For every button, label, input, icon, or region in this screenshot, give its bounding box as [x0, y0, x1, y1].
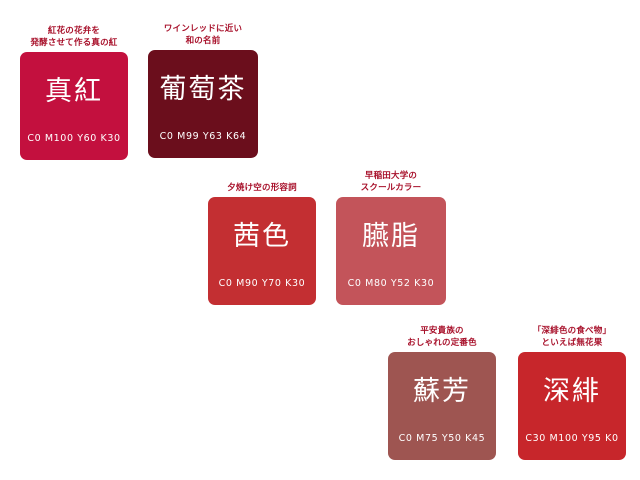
swatch-color-name: 深緋 [543, 378, 601, 405]
swatch-color-name: 茜色 [233, 223, 291, 250]
swatch-chip[interactable]: 蘇芳 C0 M75 Y50 K45 [388, 352, 496, 460]
swatch-caption: 早稲田大学の スクールカラー [336, 170, 446, 194]
swatch-caption: 夕焼け空の形容詞 [208, 182, 316, 194]
color-swatch-card[interactable]: ワインレッドに近い 和の名前 葡萄茶 C0 M99 Y63 K64 [148, 50, 258, 158]
swatch-chip[interactable]: 葡萄茶 C0 M99 Y63 K64 [148, 50, 258, 158]
swatch-caption: 「深緋色の食べ物」 といえば無花果 [518, 325, 626, 349]
color-swatch-card[interactable]: 早稲田大学の スクールカラー 臙脂 C0 M80 Y52 K30 [336, 197, 446, 305]
swatch-caption: 平安貴族の おしゃれの定番色 [388, 325, 496, 349]
swatch-color-name: 真紅 [45, 78, 103, 105]
swatch-cmyk-value: C0 M80 Y52 K30 [336, 278, 446, 289]
swatch-chip[interactable]: 茜色 C0 M90 Y70 K30 [208, 197, 316, 305]
swatch-color-name: 葡萄茶 [160, 76, 247, 103]
swatch-chip[interactable]: 臙脂 C0 M80 Y52 K30 [336, 197, 446, 305]
color-swatch-card[interactable]: 平安貴族の おしゃれの定番色 蘇芳 C0 M75 Y50 K45 [388, 352, 496, 460]
swatch-caption: ワインレッドに近い 和の名前 [148, 23, 258, 47]
color-swatch-card[interactable]: 夕焼け空の形容詞 茜色 C0 M90 Y70 K30 [208, 197, 316, 305]
swatch-cmyk-value: C0 M75 Y50 K45 [388, 433, 496, 444]
color-swatch-card[interactable]: 「深緋色の食べ物」 といえば無花果 深緋 C30 M100 Y95 K0 [518, 352, 626, 460]
swatch-chip[interactable]: 深緋 C30 M100 Y95 K0 [518, 352, 626, 460]
swatch-color-name: 臙脂 [362, 223, 420, 250]
color-swatch-card[interactable]: 紅花の花弁を 発酵させて作る真の紅 真紅 C0 M100 Y60 K30 [20, 52, 128, 160]
swatch-cmyk-value: C0 M90 Y70 K30 [208, 278, 316, 289]
swatch-caption: 紅花の花弁を 発酵させて作る真の紅 [20, 25, 128, 49]
color-swatch-board: 紅花の花弁を 発酵させて作る真の紅 真紅 C0 M100 Y60 K30 ワイン… [0, 0, 640, 480]
swatch-chip[interactable]: 真紅 C0 M100 Y60 K30 [20, 52, 128, 160]
swatch-cmyk-value: C30 M100 Y95 K0 [518, 433, 626, 444]
swatch-color-name: 蘇芳 [413, 378, 471, 405]
swatch-cmyk-value: C0 M100 Y60 K30 [20, 133, 128, 144]
swatch-cmyk-value: C0 M99 Y63 K64 [148, 131, 258, 142]
